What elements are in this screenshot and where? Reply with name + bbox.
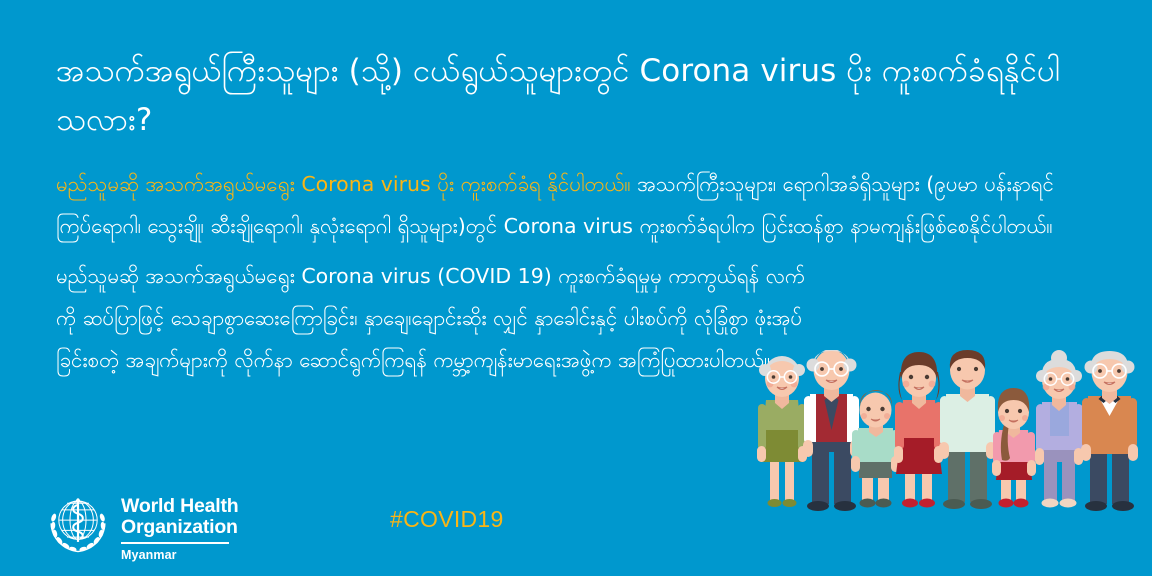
who-emblem-icon [46, 492, 110, 556]
who-wordmark: World Health Organization Myanmar [121, 492, 239, 562]
who-line-one: World Health [121, 496, 239, 517]
figure-elderly-man-left [803, 350, 860, 511]
page-title: အသက်အရွယ်ကြီးသူများ (သို့) ငယ်ရွယ်သူများ… [56, 47, 1116, 145]
who-logo: World Health Organization Myanmar [46, 492, 239, 562]
hashtag-label: #COVID19 [390, 506, 504, 533]
highlighted-statement: မည်သူမဆို အသက်အရွယ်မရွေး Corona virus ပိ… [56, 172, 631, 196]
figure-adult-man [939, 350, 996, 509]
who-country-label: Myanmar [121, 548, 239, 562]
who-divider [121, 542, 229, 544]
figure-elderly-man-right [1081, 351, 1138, 511]
figure-adult-woman [894, 352, 943, 508]
body-copy: မည်သူမဆို အသက်အရွယ်မရွေး Corona virus ပိ… [56, 163, 1081, 381]
figure-elderly-woman-right [1035, 350, 1083, 508]
family-group-illustration [752, 350, 1152, 550]
paragraph-one: မည်သူမဆို အသက်အရွယ်မရွေး Corona virus ပိ… [56, 163, 1081, 247]
who-line-two: Organization [121, 517, 239, 538]
figure-elderly-woman-left [757, 356, 807, 507]
paragraph-two: မည်သူမဆို အသက်အရွယ်မရွေး Corona virus (C… [56, 247, 816, 381]
figure-girl-child [992, 388, 1036, 508]
covid-awareness-poster: အသက်အရွယ်ကြီးသူများ (သို့) ငယ်ရွယ်သူများ… [0, 0, 1152, 576]
